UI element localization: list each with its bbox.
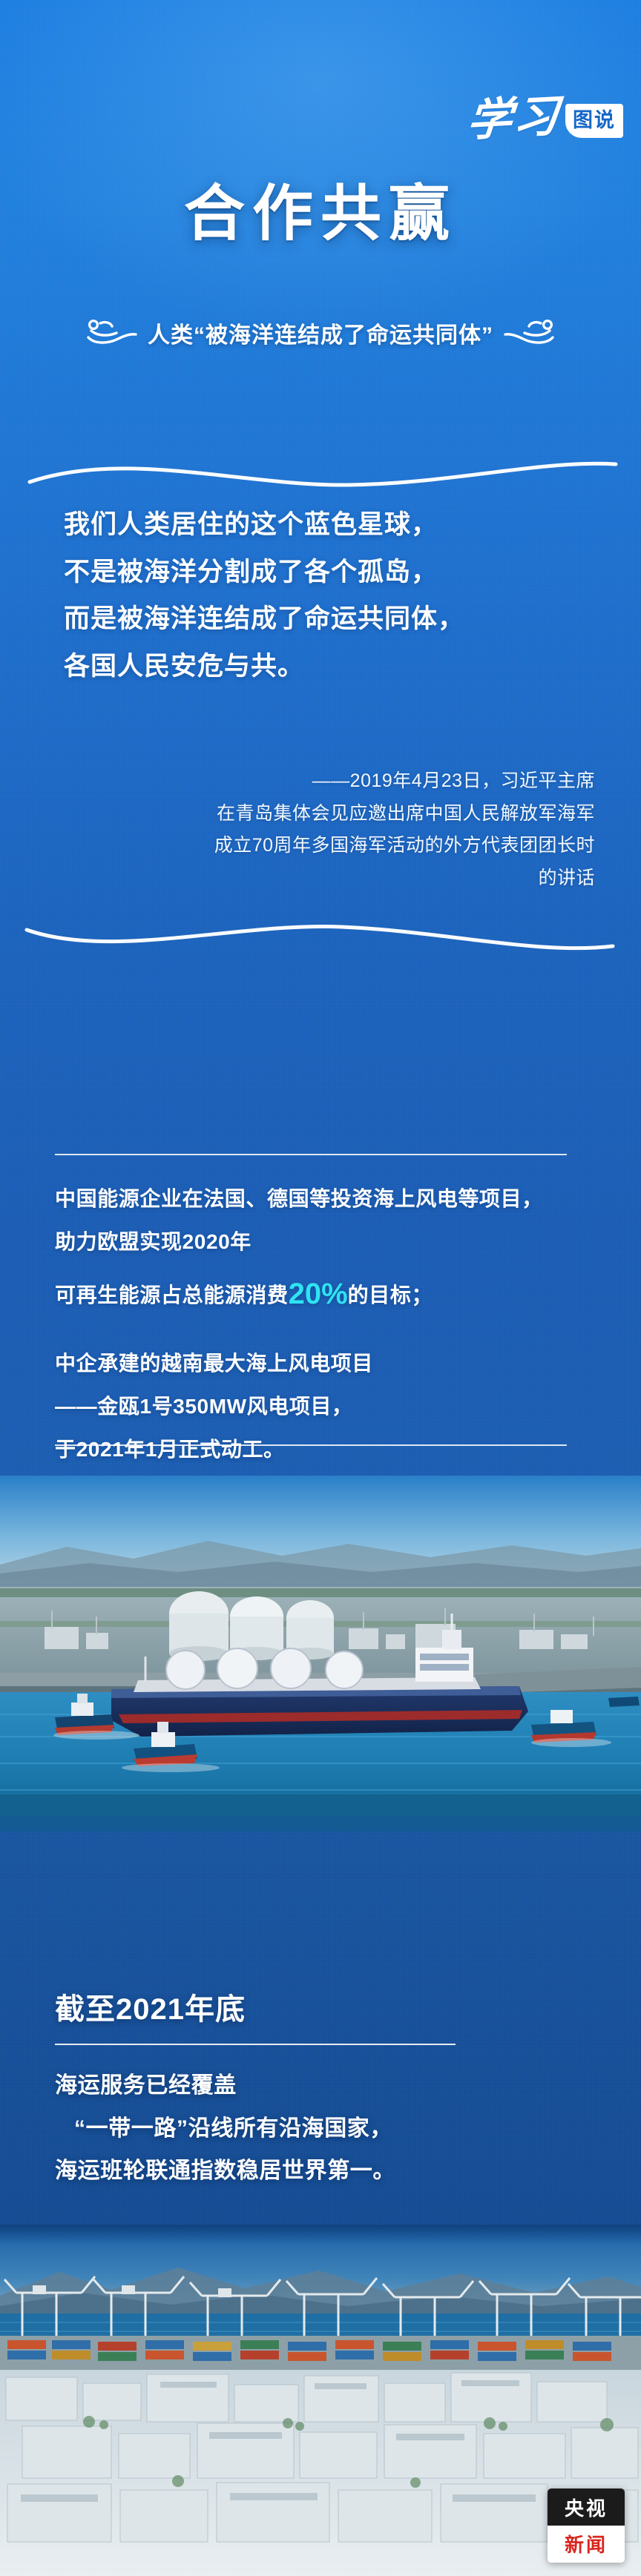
wave-divider-top (0, 452, 641, 501)
attribution-line: 成立70周年多国海军活动的外方代表团团长时 (89, 830, 595, 862)
body-line: ——金瓯1号350MW风电项目， (55, 1385, 611, 1428)
brand-chip-label: 图说 (565, 104, 623, 138)
body-line-suffix: 的目标； (348, 1284, 433, 1307)
container-port-city-photo (0, 2225, 641, 2576)
body-text-block: 中国能源企业在法国、德国等投资海上风电等项目， 助力欧盟实现2020年 可再生能… (55, 1178, 611, 1471)
body-rule-bottom (55, 1444, 567, 1446)
lower-line: 海运班轮联通指数稳居世界第一。 (55, 2150, 611, 2193)
quote-line: 我们人类居住的这个蓝色星球， (64, 501, 599, 549)
page-subtitle: 人类“被海洋连结成了命运共同体” (148, 317, 493, 349)
poster-root: 学习 图说 合作共赢 人类“被海洋连结成了命运共同体” (0, 0, 641, 2576)
body-line: 于2021年1月正式动工。 (55, 1428, 611, 1471)
wave-ornament-left-icon (82, 314, 137, 351)
body-line: 中国能源企业在法国、德国等投资海上风电等项目， (55, 1178, 611, 1221)
lower-line: “一带一路”沿线所有沿海国家， (55, 2107, 611, 2150)
body-line-with-highlight: 可再生能源占总能源消费20%的目标； (55, 1264, 611, 1325)
subtitle-row: 人类“被海洋连结成了命运共同体” (0, 314, 641, 351)
body-rule-top (55, 1154, 567, 1155)
page-title: 合作共赢 (0, 184, 641, 245)
attribution-line: 在青岛集体会见应邀出席中国人民解放军海军 (89, 798, 595, 830)
quote-line: 而是被海洋连结成了命运共同体， (64, 595, 599, 643)
lower-line: 海运服务已经覆盖 (55, 2064, 611, 2107)
quote-block: 我们人类居住的这个蓝色星球， 不是被海洋分割成了各个孤岛， 而是被海洋连结成了命… (64, 501, 599, 690)
quote-line: 各国人民安危与共。 (64, 643, 599, 690)
quote-line: 不是被海洋分割成了各个孤岛， (64, 549, 599, 596)
body-line-prefix: 可再生能源占总能源消费 (55, 1284, 289, 1307)
brand-script-text: 学习 (465, 94, 562, 143)
background-glow (0, 0, 641, 356)
brand-logo[interactable]: 学习 图说 (467, 83, 623, 141)
attribution-block: ——2019年4月23日，习近平主席 在青岛集体会见应邀出席中国人民解放军海军 … (89, 765, 595, 894)
lng-terminal-port-photo (0, 1476, 641, 1832)
wave-divider-bottom (0, 914, 641, 965)
cctv-logo-top: 央视 (548, 2489, 625, 2526)
lower-heading: 截至2021年底 (55, 1992, 611, 2027)
attribution-line: 的讲话 (89, 862, 595, 895)
cctv-logo-bottom: 新闻 (548, 2526, 625, 2563)
highlight-percentage: 20% (289, 1278, 348, 1310)
main-title-wrap: 合作共赢 (0, 184, 641, 245)
cctv-news-logo[interactable]: 央视 新闻 (548, 2489, 625, 2563)
attribution-line: ——2019年4月23日，习近平主席 (89, 765, 595, 798)
wave-ornament-right-icon (504, 314, 559, 351)
body-line: 中企承建的越南最大海上风电项目 (55, 1342, 611, 1385)
body-line: 助力欧盟实现2020年 (55, 1221, 611, 1264)
lower-text-block: 截至2021年底 海运服务已经覆盖 “一带一路”沿线所有沿海国家， 海运班轮联通… (55, 1992, 611, 2193)
lower-rule (55, 2044, 456, 2045)
